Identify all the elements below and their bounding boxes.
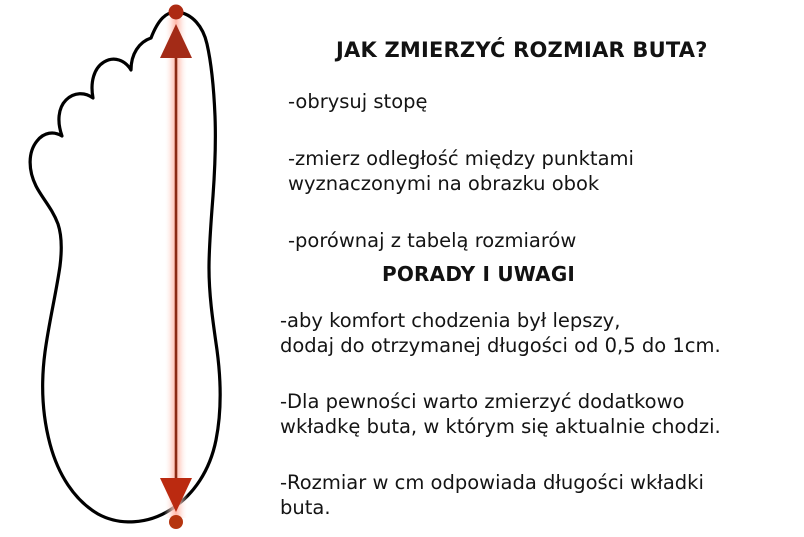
tip-3: -Rozmiar w cm odpowiada długości wkładki… [280, 470, 704, 520]
foot-outline-path [30, 12, 220, 522]
instruction-step-1: -obrysuj stopę [288, 89, 428, 114]
tip-1: -aby komfort chodzenia był lepszy, dodaj… [280, 308, 721, 358]
shoe-size-guide-page: JAK ZMIERZYĆ ROZMIAR BUTA? -obrysuj stop… [0, 0, 804, 537]
foot-diagram [0, 0, 270, 537]
tip-2: -Dla pewności warto zmierzyć dodatkowo w… [280, 389, 721, 439]
top-measure-point-marker [169, 5, 184, 20]
foot-diagram-svg [0, 0, 270, 537]
tips-section-title: PORADY I UWAGI [382, 262, 575, 286]
instruction-step-3: -porównaj z tabelą rozmiarów [288, 228, 576, 253]
page-title: JAK ZMIERZYĆ ROZMIAR BUTA? [336, 38, 708, 62]
bottom-measure-point-marker [169, 515, 183, 529]
instructions-column: JAK ZMIERZYĆ ROZMIAR BUTA? -obrysuj stop… [272, 0, 804, 537]
instruction-step-2: -zmierz odległość między punktami wyznac… [288, 146, 634, 196]
